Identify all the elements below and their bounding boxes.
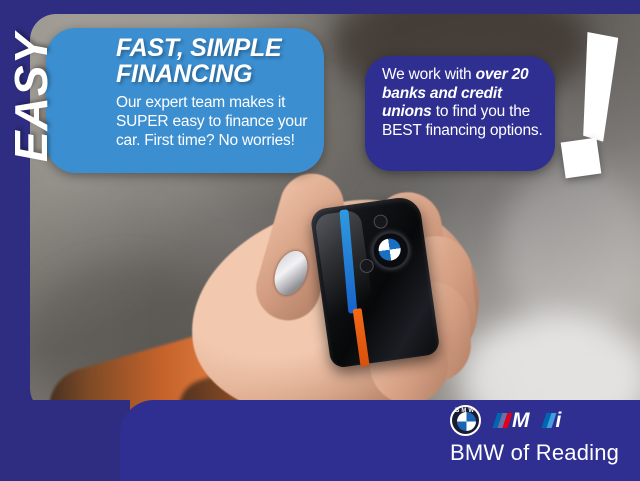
bmw-m-logo-icon: M [495,409,530,431]
m-letter: M [512,410,530,431]
banks-copy: We work with over 20 banks and credit un… [382,66,548,140]
roundel-ring: BMW [451,406,480,435]
bmw-key-fob [309,195,440,369]
banks-copy-prefix: We work with [382,66,476,83]
headline-line-1: FAST, SIMPLE [116,34,281,62]
m-stripes [493,413,513,428]
brand-logo-row: BMW M i [450,405,620,435]
dealer-name: BMW of Reading [450,440,640,466]
footer-band: BMW M i BMW of Reading [120,400,640,481]
headline-line-2: FINANCING [116,60,252,88]
roundel-letters: BMW [452,408,479,414]
exclamation-dot-icon [561,138,602,179]
i-stripes [541,413,556,428]
financing-callout-panel: FAST, SIMPLE FINANCING Our expert team m… [46,28,324,173]
bmw-i-logo-icon: i [544,409,562,431]
roundel-quadrants [457,412,476,431]
bmw-roundel-icon: BMW [450,405,481,436]
banks-callout-panel: We work with over 20 banks and credit un… [365,56,555,171]
bmw-financing-ad: FAST, SIMPLE FINANCING Our expert team m… [0,0,640,481]
headline: FAST, SIMPLE FINANCING [116,36,316,87]
footer-frame-fill [0,400,130,481]
subcopy: Our expert team makes it SUPER easy to f… [116,94,322,151]
